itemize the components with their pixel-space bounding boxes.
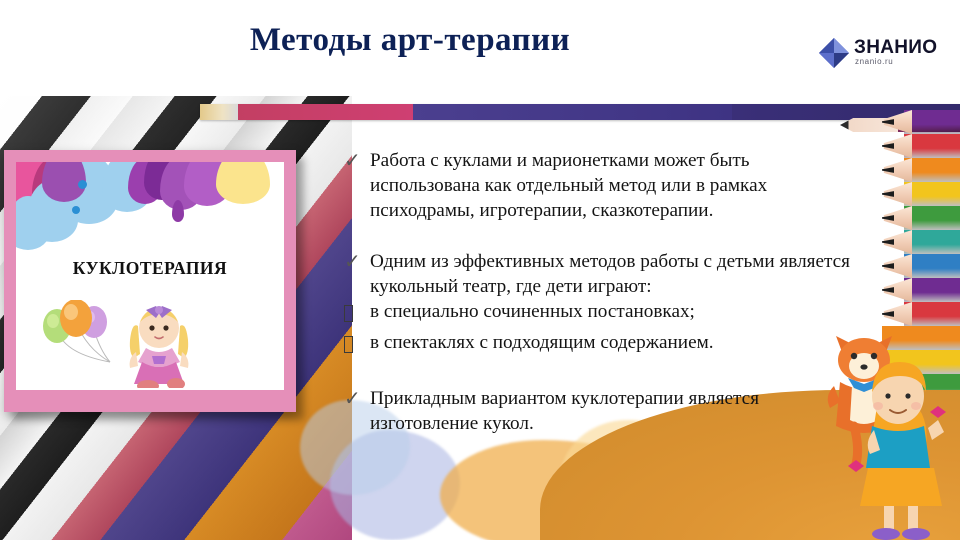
blob-blue-dot-2 xyxy=(72,206,80,214)
kuklotherapy-card: КУКЛОТЕРАПИЯ xyxy=(4,150,296,412)
card-inner: КУКЛОТЕРАПИЯ xyxy=(16,162,284,390)
colored-pencil xyxy=(882,302,960,326)
bullet-text: в специально сочиненных постановках; xyxy=(370,299,864,324)
logo-url: znanio.ru xyxy=(855,57,893,66)
znanio-logo[interactable]: ЗНАНИО znanio.ru xyxy=(818,35,954,75)
colored-pencil xyxy=(882,206,960,230)
logo-wordmark: ЗНАНИО xyxy=(854,37,937,59)
bullet-list: ✓Работа с куклами и марионетками может б… xyxy=(344,148,864,436)
box-bullet-icon xyxy=(344,330,370,361)
colored-pencil xyxy=(882,254,960,278)
diamond-logo-icon xyxy=(818,37,850,69)
card-title: КУКЛОТЕРАПИЯ xyxy=(16,258,284,279)
bullet-text: Работа с куклами и марионетками может бы… xyxy=(370,148,864,224)
slide-title: Методы арт-терапии xyxy=(0,22,820,59)
box-bullet-icon xyxy=(344,299,370,330)
colored-pencil xyxy=(882,278,960,302)
bullet-item: ✓Работа с куклами и марионетками может б… xyxy=(344,148,864,224)
slide-canvas: Методы арт-терапии ЗНАНИО znanio.ru xyxy=(0,0,960,540)
bullet-text: Прикладным вариантом куклотерапии являет… xyxy=(370,386,864,436)
balloons-and-doll xyxy=(28,300,278,388)
bullet-spacer xyxy=(344,224,864,249)
check-bullet-icon: ✓ xyxy=(344,249,370,275)
check-bullet-icon: ✓ xyxy=(344,386,370,412)
colored-pencil xyxy=(882,230,960,254)
bullet-text: в спектаклях с подходящим содержанием. xyxy=(370,330,864,355)
colored-pencil xyxy=(882,182,960,206)
bullet-text: Одним из эффективных методов работы с де… xyxy=(370,249,864,299)
blob-blue-dot-1 xyxy=(78,180,87,189)
doll-illustration-group xyxy=(28,300,278,388)
colored-pencil xyxy=(882,110,960,134)
colored-pencil xyxy=(882,134,960,158)
blob-purple-small xyxy=(172,200,184,222)
bullet-item: ✓Прикладным вариантом куклотерапии являе… xyxy=(344,386,864,436)
bullet-item: в специально сочиненных постановках; xyxy=(344,299,864,330)
horizontal-pencil-band xyxy=(200,104,960,120)
check-bullet-icon: ✓ xyxy=(344,148,370,174)
bullet-spacer xyxy=(344,361,864,386)
colored-pencil xyxy=(882,158,960,182)
bullet-item: в спектаклях с подходящим содержанием. xyxy=(344,330,864,361)
bullet-item: ✓Одним из эффективных методов работы с д… xyxy=(344,249,864,299)
